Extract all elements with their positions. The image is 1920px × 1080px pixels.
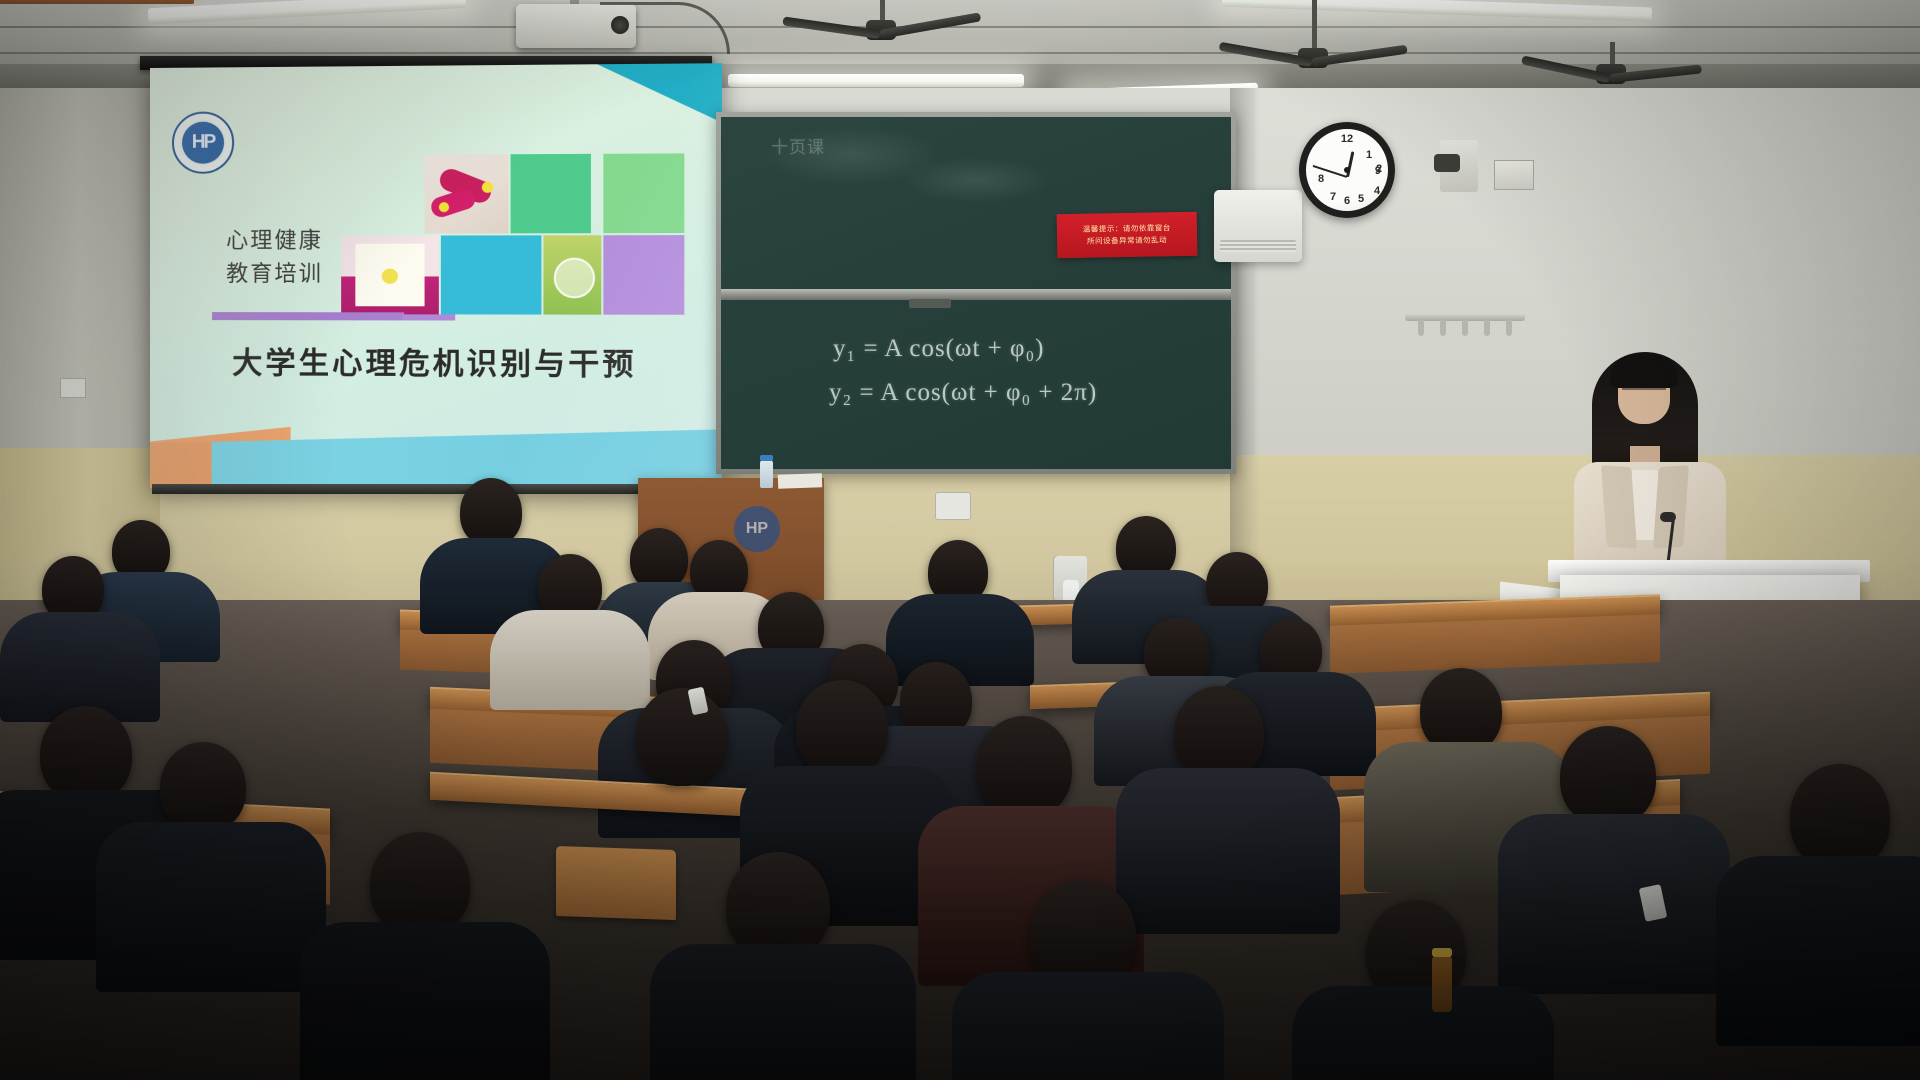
- blackboard-frame: 十页课 y₁ = A cos(ωt + φ₀) y₂ = A cos(ωt + …: [716, 112, 1236, 474]
- student-head: [630, 528, 688, 590]
- student-torso: [1716, 856, 1920, 1046]
- water-bottle: [760, 460, 773, 488]
- slide-block-cyan: [441, 235, 542, 314]
- university-logo: HP: [172, 111, 234, 173]
- slide-block-light-green: [603, 153, 684, 233]
- slide-subtitle-line1: 心理健康: [226, 223, 418, 257]
- blackboard-equation-1: y₁ = A cos(ωt + φ₀): [833, 335, 1044, 363]
- student-head: [160, 742, 246, 832]
- clothespin-dot: [482, 182, 493, 193]
- security-camera-icon: [1434, 154, 1460, 172]
- red-warning-banner: 温馨提示：请勿依靠窗台 所问设备异常请勿乱动: [1057, 212, 1198, 258]
- ceiling-light-tube: [728, 74, 1024, 87]
- student-torso: [1116, 768, 1340, 934]
- desk-papers: [778, 473, 822, 489]
- microphone-head-icon: [1660, 512, 1676, 522]
- coat-hook-icon: [1484, 320, 1490, 336]
- coat-hook-icon: [1462, 320, 1468, 336]
- ceiling-seam: [0, 26, 1920, 28]
- ac-vent: [1220, 240, 1296, 252]
- wall-clock: 12 1 2 9 4 5 6 7 8: [1299, 122, 1395, 218]
- ceiling-seam: [0, 52, 1920, 54]
- slide-subtitle: 心理健康 教育培训: [226, 223, 418, 291]
- student-head: [976, 716, 1072, 818]
- university-logo-mark: HP: [182, 122, 224, 164]
- projection-screen: HP 心理健康 教育培训: [150, 63, 722, 493]
- red-banner-line2: 所问设备异常请勿乱动: [1087, 234, 1167, 247]
- clothespin-dot: [439, 202, 449, 212]
- student-head: [40, 706, 132, 802]
- blackboard-faint-note: 十页课: [771, 133, 825, 158]
- clock-numeral-8: 8: [1280, 173, 1362, 185]
- teacher-desk-top: [0, 0, 194, 4]
- student-torso: [96, 822, 326, 992]
- chalk-smudge: [901, 157, 1051, 203]
- clock-numeral-7: 7: [1292, 191, 1374, 203]
- student-torso: [300, 922, 550, 1080]
- teacher-desk-badge: HP: [734, 506, 780, 552]
- blackboard-equation-2: y₂ = A cos(ωt + φ₀ + 2π): [829, 379, 1097, 407]
- student-torso: [490, 610, 650, 710]
- student-head: [1174, 686, 1264, 780]
- glassware-shape: [554, 258, 595, 299]
- student-torso: [1292, 986, 1554, 1080]
- ceiling-fan-rod: [880, 0, 885, 22]
- clock-numeral-1: 1: [1328, 149, 1410, 161]
- slide-purple-rule: [212, 312, 404, 320]
- light-switch[interactable]: [60, 378, 86, 398]
- student-head: [1560, 726, 1656, 826]
- slide-block-green: [511, 154, 591, 234]
- clock-numeral-12: 12: [1306, 133, 1388, 145]
- soda-bottle: [1432, 956, 1452, 1012]
- coat-hook-icon: [1440, 320, 1446, 336]
- slide-block-purple: [603, 235, 684, 315]
- chair-back: [556, 846, 676, 920]
- wall-power-socket[interactable]: [935, 492, 971, 520]
- bottle-cap: [760, 455, 773, 461]
- slide-subtitle-line2: 教育培训: [226, 257, 418, 291]
- slide-teal-corner: [597, 63, 722, 123]
- slide-photo-glassware: [543, 235, 601, 314]
- student-torso: [1498, 814, 1730, 994]
- student-head: [1790, 764, 1890, 870]
- slide-photo-clothespins: [425, 154, 509, 233]
- blackboard-chalk-tray: [721, 289, 1231, 300]
- student-head: [370, 832, 470, 936]
- projection-screen-weight-bar: [152, 484, 708, 494]
- student-head: [460, 478, 522, 546]
- slide-canvas: HP 心理健康 教育培训: [150, 63, 722, 493]
- student-torso: [952, 972, 1224, 1080]
- presenter-fringe: [1610, 354, 1678, 388]
- blackboard-eraser: [909, 299, 951, 308]
- lecture-hall-photo: HP 心理健康 教育培训: [0, 0, 1920, 1080]
- slide-purple-rule-segment: [402, 314, 455, 320]
- ceiling-fan-rod: [1312, 0, 1317, 50]
- air-conditioner-unit: [1214, 190, 1302, 262]
- bottle-cap: [1432, 948, 1452, 957]
- presenter-lapel-left: [1601, 465, 1637, 549]
- blackboard: 十页课 y₁ = A cos(ωt + φ₀) y₂ = A cos(ωt + …: [721, 117, 1231, 469]
- student-head: [796, 680, 888, 776]
- clothespin-shape: [429, 187, 478, 220]
- clock-center-pin: [1344, 167, 1350, 173]
- glasses-icon: [1622, 388, 1666, 398]
- wall-junction-box: [1494, 160, 1534, 190]
- coat-hook-icon: [1418, 320, 1424, 336]
- student-head: [636, 688, 728, 786]
- slide-main-title: 大学生心理危机识别与干预: [150, 338, 722, 384]
- coat-hook-icon: [1506, 320, 1512, 336]
- student-torso: [650, 944, 916, 1080]
